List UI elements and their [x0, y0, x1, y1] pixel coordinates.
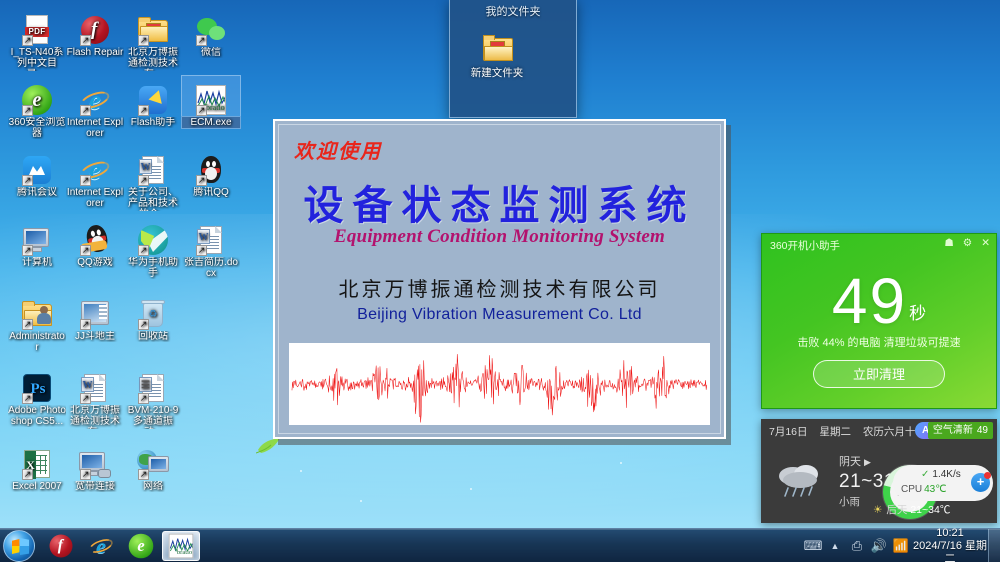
desktop-icon-5[interactable]: e↗Internet Explorer: [66, 76, 124, 139]
assistant-tools: ☗ ⚙ ✕: [944, 237, 990, 249]
desktop-icon-3[interactable]: ↗微信: [182, 6, 240, 58]
weather-condition-text: 阴天: [839, 456, 861, 468]
desktop-icon-label: 腾讯会议: [8, 187, 66, 198]
user-folder-icon: ↗: [8, 290, 66, 330]
chevron-right-icon[interactable]: ▶: [864, 457, 871, 467]
excel-icon: X↗: [8, 440, 66, 480]
shortcut-arrow-icon: ↗: [196, 105, 207, 116]
folder-window-item[interactable]: 新建文件夹: [462, 33, 532, 80]
desktop-icon-label: Excel 2007: [8, 481, 66, 492]
shortcut-arrow-icon: ↗: [80, 175, 91, 186]
shortcut-arrow-icon: ↗: [22, 393, 33, 404]
desktop-icon-15[interactable]: W↗张吉简历.docx: [182, 216, 240, 279]
shortcut-arrow-icon: ↗: [138, 469, 149, 480]
rain-cloud-icon: [773, 459, 829, 499]
assistant-seconds-unit: 秒: [909, 304, 928, 323]
desktop-icon-label: ECM.exe: [182, 117, 240, 128]
taskbar-360-browser[interactable]: e: [122, 531, 160, 561]
assistant-subtitle: 击败 44% 的电脑 清理垃圾可提速: [762, 334, 996, 350]
shortcut-arrow-icon: ↗: [138, 393, 149, 404]
desktop-icon-label: Flash Repair: [66, 47, 124, 58]
taskbar-clock[interactable]: 10:21 2024/7/16 星期二: [912, 527, 988, 562]
shortcut-arrow-icon: ↗: [138, 35, 149, 46]
wallpaper-sparkle: [360, 500, 362, 502]
shortcut-arrow-icon: ↗: [80, 319, 91, 330]
add-widget-button[interactable]: +: [971, 473, 990, 492]
weather-header: 7月16日 星期二 农历六月十一 AI 空气清新49: [761, 419, 997, 443]
air-quality-label: 空气清新: [933, 425, 973, 436]
flash-repair-icon: f↗: [66, 6, 124, 46]
shortcut-arrow-icon: ↗: [22, 319, 33, 330]
taskbar: feebration ⌨ ▲ ⎙ 🔊 📶 10:21 2024/7/16 星期二: [0, 528, 1000, 562]
desktop-icon-11[interactable]: ↗腾讯QQ: [182, 146, 240, 198]
assistant-header: 360开机小助手 ☗ ⚙ ✕: [762, 234, 996, 256]
vibration-waveform-panel: [289, 343, 710, 425]
shortcut-arrow-icon: ↗: [22, 469, 33, 480]
jj-landlord-icon: ↗: [66, 290, 124, 330]
desktop-icon-label: I_TS-N40系列中文目录....: [8, 47, 66, 71]
keyboard-input-icon[interactable]: ⌨: [802, 538, 824, 554]
word-document-icon: W↗: [182, 216, 240, 256]
taskbar-internet-explorer[interactable]: e: [82, 531, 120, 561]
network-signal-icon[interactable]: 📶: [890, 538, 912, 554]
desktop-icon-16[interactable]: ↗Administrator: [8, 290, 66, 353]
air-quality-value: 49: [977, 425, 988, 436]
clock-date: 2024/7/16 星期二: [912, 540, 988, 562]
shortcut-arrow-icon: ↗: [80, 245, 91, 256]
gear-icon[interactable]: ⚙: [963, 237, 972, 249]
desktop-icon-17[interactable]: ↗JJ斗地主: [66, 290, 124, 342]
desktop-icon-19[interactable]: Ps↗Adobe Photoshop CS5...: [8, 364, 66, 427]
desktop-icon-label: Internet Explorer: [66, 187, 124, 209]
show-desktop-button[interactable]: [988, 529, 1000, 562]
show-hidden-icons-arrow[interactable]: ▲: [824, 541, 846, 551]
folder-icon: ↗: [124, 6, 182, 46]
desktop-icon-10[interactable]: W↗关于公司、产品和技术的介...: [124, 146, 182, 211]
word-document-icon: W↗: [66, 364, 124, 404]
desktop-icon-label: 腾讯QQ: [182, 187, 240, 198]
folder-window[interactable]: 我的文件夹 新建文件夹: [449, 0, 577, 118]
desktop-icon-label: 回收站: [124, 331, 182, 342]
assistant-boot-seconds: 49秒: [762, 264, 996, 338]
shortcut-arrow-icon: ↗: [22, 105, 33, 116]
desktop-icon-20[interactable]: W↗北京万博振通检测技术有..: [66, 364, 124, 429]
recycle-bin-icon: ♻↗: [124, 290, 182, 330]
desktop-icon-label: BVM-210-9多通道振动...: [124, 405, 182, 429]
air-quality-badge[interactable]: 空气清新49: [928, 422, 993, 439]
word-document-icon: W↗: [124, 146, 182, 186]
shortcut-arrow-icon: ↗: [138, 175, 149, 186]
pdf-document-icon: PDF↗: [8, 6, 66, 46]
start-orb[interactable]: [3, 530, 35, 562]
cpu-temperature: CPU43℃: [901, 484, 946, 495]
huawei-assistant-icon: ↗: [124, 216, 182, 256]
desktop-icon-14[interactable]: ↗华为手机助手: [124, 216, 182, 279]
desktop-icon-7[interactable]: bration↗ECM.exe: [182, 76, 240, 128]
shirt-icon[interactable]: ☗: [944, 237, 953, 249]
text-document-icon: ☰↗: [124, 364, 182, 404]
shortcut-arrow-icon: ↗: [80, 469, 91, 480]
clock-time: 10:21: [912, 527, 988, 540]
shortcut-arrow-icon: ↗: [80, 105, 91, 116]
desktop-icon-label: JJ斗地主: [66, 331, 124, 342]
desktop-icon-1[interactable]: f↗Flash Repair: [66, 6, 124, 58]
desktop-icon-label: Adobe Photoshop CS5...: [8, 405, 66, 427]
taskbar-flash-repair[interactable]: f: [42, 531, 80, 561]
system-status-pill[interactable]: 1.4K/s CPU43℃ +: [893, 465, 993, 501]
desktop-icon-label: 微信: [182, 47, 240, 58]
desktop-icon-0[interactable]: PDF↗I_TS-N40系列中文目录....: [8, 6, 66, 71]
sun-icon: ☀: [873, 504, 882, 516]
assistant-seconds-value: 49: [832, 265, 907, 337]
clean-now-button[interactable]: 立即清理: [813, 360, 945, 388]
splash-title-english: Equipment Condition Monitoring System: [275, 226, 724, 248]
tencent-qq-icon: ↗: [182, 146, 240, 186]
ecm-splash-window[interactable]: 欢迎使用 设备状态监测系统 Equipment Condition Monito…: [273, 119, 726, 439]
taskbar-ecm-app[interactable]: bration: [162, 531, 200, 561]
shortcut-arrow-icon: ↗: [80, 393, 91, 404]
wallpaper-sparkle: [470, 488, 472, 490]
volume-icon[interactable]: 🔊: [868, 538, 890, 554]
splash-title-chinese: 设备状态监测系统: [275, 173, 724, 231]
shortcut-arrow-icon: ↗: [196, 35, 207, 46]
wechat-icon: ↗: [182, 6, 240, 46]
desktop-icon-label: 计算机: [8, 257, 66, 268]
desktop-icon-2[interactable]: ↗北京万博振通检测技术有...: [124, 6, 182, 71]
folder-icon: [482, 33, 514, 63]
desktop-icon-label: 北京万博振通检测技术有..: [66, 405, 124, 429]
desktop-icon-label: QQ游戏: [66, 257, 124, 268]
vibration-waveform: [290, 344, 709, 424]
desktop-icon-label: 360安全浏览器: [8, 117, 66, 139]
desktop-icon-12[interactable]: ↗计算机: [8, 216, 66, 268]
shortcut-arrow-icon: ↗: [80, 35, 91, 46]
cpu-label: CPU: [901, 484, 922, 495]
tencent-meeting-icon: ↗: [8, 146, 66, 186]
safely-remove-hardware-icon[interactable]: ⎙: [846, 538, 868, 554]
splash-company-chinese: 北京万博振通检测技术有限公司: [275, 273, 724, 302]
desktop-icon-22[interactable]: X↗Excel 2007: [8, 440, 66, 492]
desktop-icon-9[interactable]: e↗Internet Explorer: [66, 146, 124, 209]
network-speed: 1.4K/s: [921, 469, 961, 480]
desktop-icon-24[interactable]: ↗网络: [124, 440, 182, 492]
shortcut-arrow-icon: ↗: [22, 35, 33, 46]
system-tray: ⌨ ▲ ⎙ 🔊 📶 10:21 2024/7/16 星期二: [802, 529, 1000, 562]
close-icon[interactable]: ✕: [981, 237, 990, 249]
qq-games-icon: ↗: [66, 216, 124, 256]
wallpaper-sparkle: [300, 470, 302, 472]
weather-forecast: ☀后天 21~34℃: [873, 502, 950, 517]
desktop-icon-label: Internet Explorer: [66, 117, 124, 139]
weather-widget[interactable]: 7月16日 星期二 农历六月十一 AI 空气清新49 阴天▶ 21~31℃ 小雨…: [761, 419, 997, 523]
shortcut-arrow-icon: ↗: [22, 175, 33, 186]
shortcut-arrow-icon: ↗: [22, 245, 33, 256]
desktop-icon-label: 华为手机助手: [124, 257, 182, 279]
shortcut-arrow-icon: ↗: [138, 105, 149, 116]
desktop-icon-label: Administrator: [8, 331, 66, 353]
photoshop-icon: Ps↗: [8, 364, 66, 404]
folder-window-body: 新建文件夹: [450, 25, 576, 118]
folder-window-item-label: 新建文件夹: [462, 65, 532, 80]
desktop-icon-8[interactable]: ↗腾讯会议: [8, 146, 66, 198]
desktop-icon-label: 关于公司、产品和技术的介...: [124, 187, 182, 211]
weather-dates: 7月16日 星期二 农历六月十一: [769, 426, 935, 438]
weather-date: 7月16日: [769, 426, 808, 438]
weather-body: 阴天▶ 21~31℃ 小雨 22% 1.4K/s CPU43℃ + ☀后天 21…: [761, 443, 997, 521]
folder-window-title: 我的文件夹: [450, 0, 576, 25]
network-icon: ↗: [124, 440, 182, 480]
desktop-icon-13[interactable]: ↗QQ游戏: [66, 216, 124, 268]
assistant-title: 360开机小助手: [770, 240, 840, 252]
shortcut-arrow-icon: ↗: [196, 175, 207, 186]
desktop-icon-6[interactable]: ↗Flash助手: [124, 76, 182, 128]
desktop-icon-4[interactable]: e↗360安全浏览器: [8, 76, 66, 139]
desktop-icon-label: 网络: [124, 481, 182, 492]
desktop-icon-21[interactable]: ☰↗BVM-210-9多通道振动...: [124, 364, 182, 429]
flash-helper-icon: ↗: [124, 76, 182, 116]
splash-welcome-text: 欢迎使用: [294, 135, 382, 164]
forecast-day: 后天: [886, 504, 907, 516]
computer-icon: ↗: [8, 216, 66, 256]
wallpaper-leaf-icon: [256, 437, 282, 457]
shortcut-arrow-icon: ↗: [138, 319, 149, 330]
ecm-app-icon: bration↗: [182, 76, 240, 116]
desktop-icon-label: Flash助手: [124, 117, 182, 128]
desktop-icon-label: 宽带连接: [66, 481, 124, 492]
shortcut-arrow-icon: ↗: [138, 245, 149, 256]
shortcut-arrow-icon: ↗: [196, 245, 207, 256]
splash-company-english: Beijing Vibration Measurement Co. Ltd: [275, 306, 724, 324]
360-boot-assistant-widget[interactable]: 360开机小助手 ☗ ⚙ ✕ 49秒 击败 44% 的电脑 清理垃圾可提速 立即…: [761, 233, 997, 409]
desktop-icon-label: 张吉简历.docx: [182, 257, 240, 279]
desktop-icon-18[interactable]: ♻↗回收站: [124, 290, 182, 342]
broadband-connection-icon: ↗: [66, 440, 124, 480]
cpu-temp-value: 43℃: [924, 484, 946, 495]
internet-explorer-icon: e↗: [66, 146, 124, 186]
desktop-icon-label: 北京万博振通检测技术有...: [124, 47, 182, 71]
internet-explorer-icon: e↗: [66, 76, 124, 116]
wallpaper-sparkle: [620, 462, 622, 464]
weather-weekday: 星期二: [819, 426, 851, 438]
desktop-icon-23[interactable]: ↗宽带连接: [66, 440, 124, 492]
browser-360-icon: e↗: [8, 76, 66, 116]
forecast-temp: 21~34℃: [910, 504, 950, 516]
